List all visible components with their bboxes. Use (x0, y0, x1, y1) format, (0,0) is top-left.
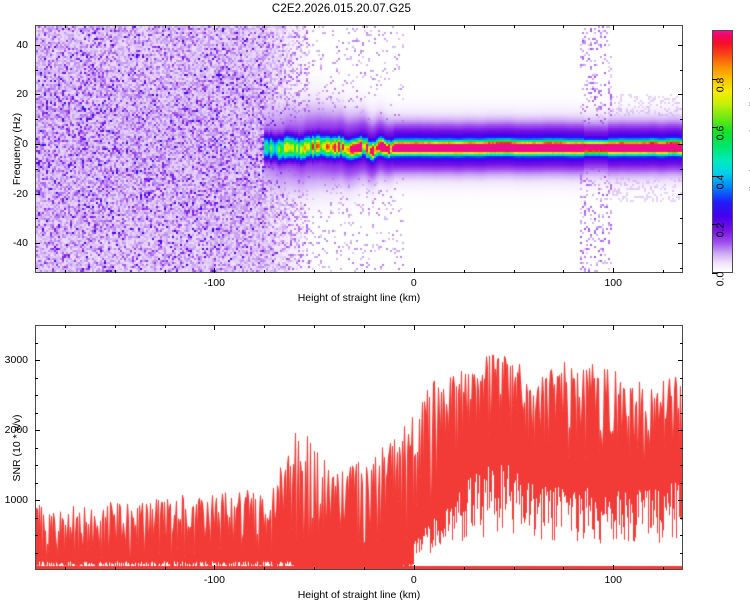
x-tick-minor (364, 270, 365, 273)
x-tick-minor-top (65, 325, 66, 328)
x-tick-label: 0 (411, 277, 417, 289)
snr-x-axis-title: Height of straight line (km) (298, 589, 421, 601)
y-tick-major-right (678, 194, 683, 195)
x-tick-major (613, 268, 614, 273)
y-tick-minor-right (680, 268, 683, 269)
y-tick-minor (35, 343, 38, 344)
x-tick-minor-top (115, 325, 116, 328)
snr-trace (36, 326, 682, 569)
y-tick-minor (35, 378, 38, 379)
colorbar-tick-label: 0.8 (715, 77, 727, 92)
y-tick-minor-right (680, 483, 683, 484)
x-tick-minor (115, 567, 116, 570)
y-tick-minor (35, 465, 38, 466)
spectrogram-y-axis-title: Frequency (Hz) (11, 113, 23, 185)
x-tick-minor-top (663, 325, 664, 328)
y-tick-major (35, 94, 40, 95)
x-tick-minor (165, 270, 166, 273)
x-tick-minor (563, 567, 564, 570)
y-tick-label: -20 (0, 188, 28, 200)
y-tick-major (35, 194, 40, 195)
x-tick-major-top (613, 25, 614, 30)
x-tick-minor (314, 567, 315, 570)
spectrogram-x-axis-title: Height of straight line (km) (298, 292, 421, 304)
y-tick-major (35, 144, 40, 145)
x-tick-minor-top (464, 325, 465, 328)
x-tick-major (214, 268, 215, 273)
x-tick-minor-top (364, 325, 365, 328)
y-tick-minor (35, 535, 38, 536)
y-tick-minor (35, 553, 38, 554)
colorbar-tick-label: 0.2 (715, 223, 727, 238)
y-tick-minor-right (680, 535, 683, 536)
x-tick-minor-top (563, 25, 564, 28)
x-tick-minor-top (65, 25, 66, 28)
y-tick-minor (35, 395, 38, 396)
y-tick-minor-right (680, 378, 683, 379)
y-tick-major (35, 243, 40, 244)
y-tick-minor-right (680, 553, 683, 554)
x-tick-minor (663, 567, 664, 570)
x-tick-minor (314, 270, 315, 273)
figure-title: C2E2.2026.015.20.07.G25 (0, 3, 683, 15)
y-tick-label: 40 (0, 39, 28, 51)
x-tick-minor-top (165, 25, 166, 28)
y-tick-label: 20 (0, 88, 28, 100)
y-tick-major-right (678, 500, 683, 501)
y-tick-minor (35, 119, 38, 120)
x-tick-label: 0 (411, 574, 417, 586)
y-tick-major-right (678, 360, 683, 361)
snr-y-axis-title: SNR (10 * v/v) (11, 414, 23, 481)
x-tick-minor (65, 270, 66, 273)
x-tick-minor (165, 567, 166, 570)
y-tick-minor-right (680, 169, 683, 170)
y-tick-minor-right (680, 343, 683, 344)
x-tick-minor (514, 567, 515, 570)
x-tick-label: 100 (604, 277, 622, 289)
y-tick-minor (35, 218, 38, 219)
x-tick-minor-top (663, 25, 664, 28)
y-tick-major (35, 430, 40, 431)
x-tick-minor-top (115, 25, 116, 28)
y-tick-major-right (678, 430, 683, 431)
y-tick-minor-right (680, 218, 683, 219)
y-tick-minor (35, 483, 38, 484)
x-tick-minor (65, 567, 66, 570)
y-tick-major (35, 500, 40, 501)
x-tick-minor-top (563, 325, 564, 328)
y-tick-major (35, 45, 40, 46)
y-tick-major (35, 360, 40, 361)
x-tick-minor (264, 270, 265, 273)
x-tick-minor (464, 270, 465, 273)
y-tick-minor-right (680, 465, 683, 466)
x-tick-minor (514, 270, 515, 273)
y-tick-major-right (678, 94, 683, 95)
x-tick-major (214, 565, 215, 570)
y-tick-minor (35, 448, 38, 449)
x-tick-major-top (214, 25, 215, 30)
x-tick-minor-top (165, 325, 166, 328)
x-tick-minor-top (264, 325, 265, 328)
y-tick-minor-right (680, 395, 683, 396)
x-tick-minor (364, 567, 365, 570)
x-tick-major-top (414, 325, 415, 330)
y-tick-label: 3000 (0, 354, 28, 366)
y-tick-minor-right (680, 70, 683, 71)
x-tick-label: 100 (604, 574, 622, 586)
y-tick-minor-right (680, 413, 683, 414)
x-tick-minor-top (314, 25, 315, 28)
x-tick-label: -100 (204, 574, 225, 586)
y-tick-minor-right (680, 448, 683, 449)
y-tick-major-right (678, 243, 683, 244)
spectrogram-image (36, 26, 682, 272)
x-tick-major-top (214, 325, 215, 330)
x-tick-minor-top (364, 25, 365, 28)
x-tick-major (613, 565, 614, 570)
x-tick-minor (264, 567, 265, 570)
x-tick-major (414, 268, 415, 273)
y-tick-label: -40 (0, 237, 28, 249)
x-tick-major (414, 565, 415, 570)
snr-plot-area (35, 325, 683, 570)
y-tick-minor (35, 169, 38, 170)
x-tick-minor-top (514, 25, 515, 28)
figure-root: C2E2.2026.015.20.07.G25 -1000100-40-2002… (0, 0, 750, 600)
colorbar-tick-label: 0.6 (715, 126, 727, 141)
y-tick-minor (35, 268, 38, 269)
y-tick-major-right (678, 45, 683, 46)
x-tick-major-top (613, 325, 614, 330)
y-tick-label: 1000 (0, 494, 28, 506)
x-tick-minor-top (464, 25, 465, 28)
y-tick-minor (35, 518, 38, 519)
colorbar-tick-label: 0.0 (715, 272, 727, 287)
y-tick-minor (35, 70, 38, 71)
x-tick-minor-top (314, 325, 315, 328)
x-tick-minor-top (264, 25, 265, 28)
y-tick-minor-right (680, 518, 683, 519)
x-tick-label: -100 (204, 277, 225, 289)
x-tick-minor (663, 270, 664, 273)
x-tick-minor (563, 270, 564, 273)
spectrogram-plot-area (35, 25, 683, 273)
y-tick-minor-right (680, 119, 683, 120)
colorbar-tick-label: 0.4 (715, 174, 727, 189)
x-tick-major-top (414, 25, 415, 30)
x-tick-minor-top (514, 325, 515, 328)
y-tick-major-right (678, 144, 683, 145)
y-tick-minor (35, 413, 38, 414)
x-tick-minor (464, 567, 465, 570)
x-tick-minor (115, 270, 116, 273)
